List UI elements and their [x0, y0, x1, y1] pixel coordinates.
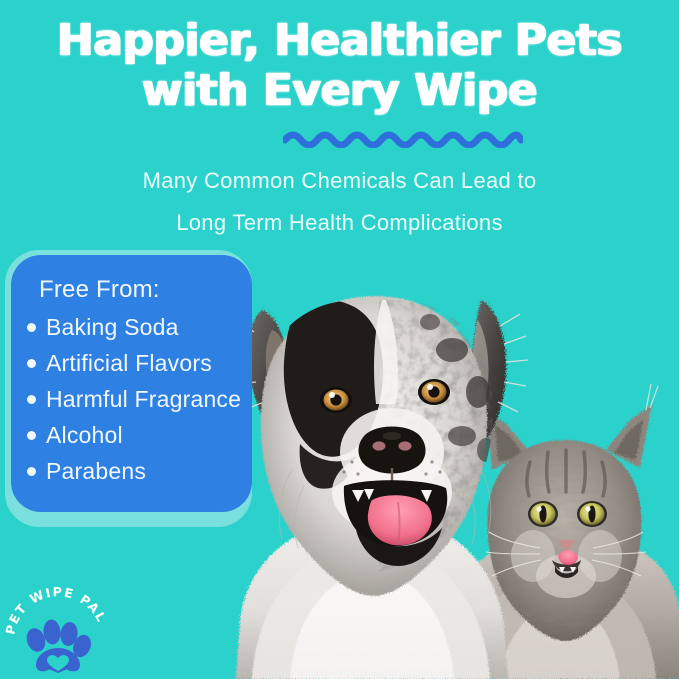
list-item-label: Artificial Flavors	[46, 345, 212, 381]
cat-eye-right	[577, 501, 607, 527]
list-item: Artificial Flavors	[27, 345, 252, 381]
headline-line-1: Happier, Healthier Pets	[0, 16, 679, 66]
bullet-dot-icon	[27, 467, 36, 476]
free-from-list: Baking Soda Artificial Flavors Harmful F…	[27, 309, 252, 489]
list-item: Alcohol	[27, 417, 252, 453]
bullet-dot-icon	[27, 359, 36, 368]
page-title: Happier, Healthier Pets with Every Wipe	[0, 16, 679, 116]
bullet-dot-icon	[27, 323, 36, 332]
wavy-underline-icon	[283, 128, 523, 148]
ad-creative-canvas: Happier, Healthier Pets with Every Wipe …	[0, 0, 679, 679]
border-collie-photo	[230, 296, 528, 679]
free-from-title: Free From:	[39, 275, 252, 305]
list-item: Baking Soda	[27, 309, 252, 345]
bullet-dot-icon	[27, 395, 36, 404]
list-item: Harmful Fragrance	[27, 381, 252, 417]
headline-line-2: with Every Wipe	[0, 66, 679, 116]
dog-eye-left	[320, 387, 352, 413]
list-item-label: Baking Soda	[46, 309, 179, 345]
cat-eye-left	[528, 501, 558, 527]
brand-logo: PET WIPE PALS	[4, 578, 108, 674]
subtitle-line-1: Many Common Chemicals Can Lead to	[0, 160, 679, 202]
bullet-dot-icon	[27, 431, 36, 440]
dog-eye-right	[418, 379, 450, 405]
list-item: Parabens	[27, 453, 252, 489]
list-item-label: Harmful Fragrance	[46, 381, 241, 417]
list-item-label: Parabens	[46, 453, 146, 489]
page-subtitle: Many Common Chemicals Can Lead to Long T…	[0, 160, 679, 244]
free-from-card: Free From: Baking Soda Artificial Flavor…	[11, 255, 252, 512]
subtitle-line-2: Long Term Health Complications	[0, 202, 679, 244]
list-item-label: Alcohol	[46, 417, 123, 453]
